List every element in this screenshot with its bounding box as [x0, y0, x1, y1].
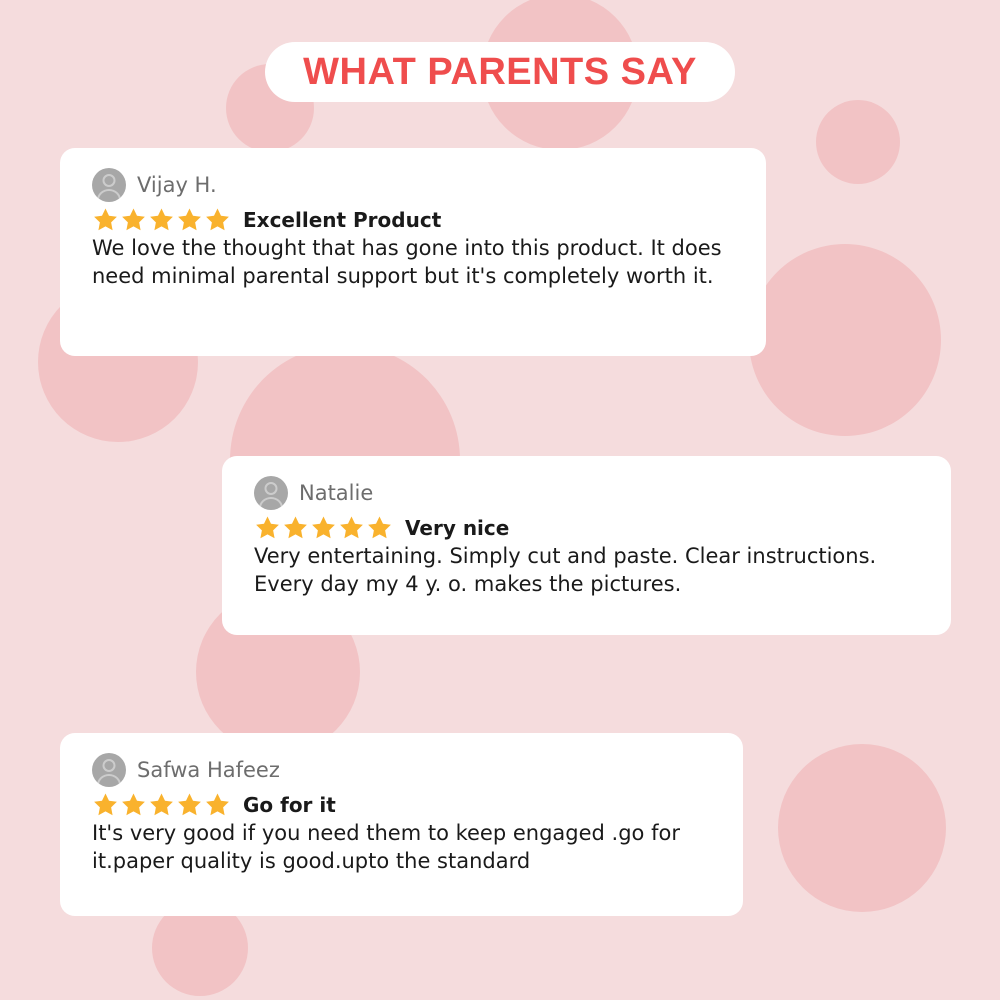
user-avatar-icon	[92, 753, 126, 787]
review-headline: Go for it	[243, 793, 336, 817]
review-body: Very entertaining. Simply cut and paste.…	[254, 543, 925, 598]
star-icon	[254, 514, 281, 541]
reviewer-row: Safwa Hafeez	[92, 753, 717, 787]
page-title: WHAT PARENTS SAY	[303, 51, 697, 94]
star-icon	[120, 206, 147, 233]
star-icon	[204, 206, 231, 233]
star-icon	[176, 791, 203, 818]
star-icon	[310, 514, 337, 541]
rating-row: Very nice	[254, 514, 925, 541]
star-icon	[204, 791, 231, 818]
user-avatar-icon	[92, 168, 126, 202]
star-icon	[176, 206, 203, 233]
reviewer-row: Natalie	[254, 476, 925, 510]
review-card: Natalie Very nice Very entertaining. Sim…	[222, 456, 951, 635]
user-avatar-icon	[254, 476, 288, 510]
star-icon	[148, 206, 175, 233]
review-body: It's very good if you need them to keep …	[92, 820, 717, 875]
background-circle	[816, 100, 900, 184]
review-card: Vijay H. Excellent Product We love the t…	[60, 148, 766, 356]
review-card: Safwa Hafeez Go for it It's very good if…	[60, 733, 743, 916]
background-circle	[749, 244, 941, 436]
star-icon	[148, 791, 175, 818]
star-icon	[366, 514, 393, 541]
reviewer-name: Natalie	[299, 481, 373, 505]
review-body: We love the thought that has gone into t…	[92, 235, 740, 290]
rating-row: Excellent Product	[92, 206, 740, 233]
testimonials-page: WHAT PARENTS SAY Vijay H. Excellent Prod…	[0, 0, 1000, 1000]
reviewer-row: Vijay H.	[92, 168, 740, 202]
reviewer-name: Vijay H.	[137, 173, 217, 197]
section-title-pill: WHAT PARENTS SAY	[265, 42, 735, 102]
review-headline: Very nice	[405, 516, 509, 540]
star-icon	[282, 514, 309, 541]
reviewer-name: Safwa Hafeez	[137, 758, 280, 782]
star-icon	[120, 791, 147, 818]
star-rating	[92, 791, 231, 818]
star-icon	[92, 791, 119, 818]
star-rating	[254, 514, 393, 541]
star-rating	[92, 206, 231, 233]
background-circle	[778, 744, 946, 912]
review-headline: Excellent Product	[243, 208, 441, 232]
rating-row: Go for it	[92, 791, 717, 818]
star-icon	[338, 514, 365, 541]
star-icon	[92, 206, 119, 233]
